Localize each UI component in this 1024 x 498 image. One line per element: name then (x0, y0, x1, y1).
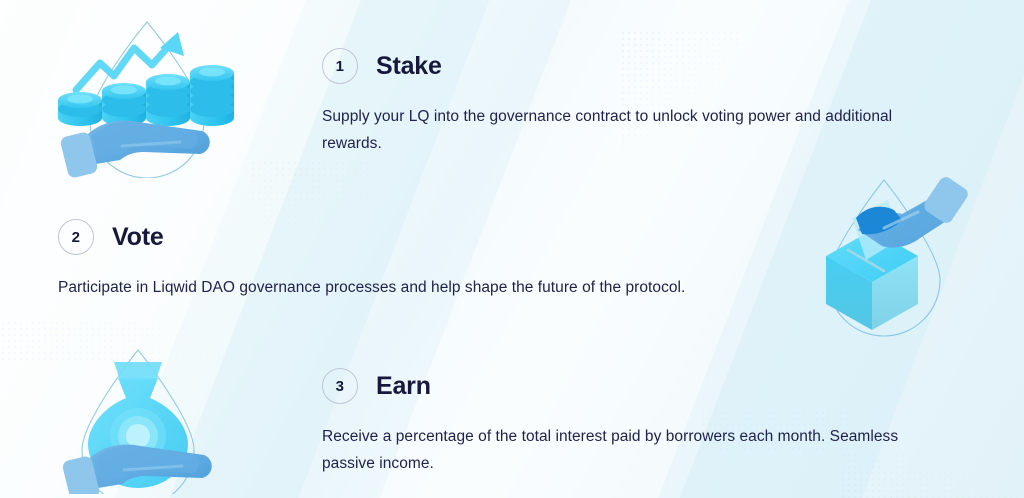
step-earn: 3 Earn Receive a percentage of the total… (322, 368, 942, 477)
step-title: Earn (376, 372, 431, 401)
step-stake: 1 Stake Supply your LQ into the governan… (322, 48, 942, 157)
step-number-badge: 2 (58, 219, 94, 255)
coin-stack-4 (190, 65, 234, 126)
earn-illustration (56, 344, 231, 498)
step-title: Vote (112, 223, 164, 252)
step-title: Stake (376, 52, 442, 81)
step-vote: 2 Vote Participate in Liqwid DAO governa… (58, 219, 758, 302)
step-header: 3 Earn (322, 368, 942, 404)
coin-stack-2 (102, 83, 146, 126)
coin-stack-1 (58, 92, 102, 126)
bag-neck (114, 362, 162, 380)
step-number-badge: 3 (322, 368, 358, 404)
open-hand (59, 121, 209, 178)
step-header: 1 Stake (322, 48, 942, 84)
steps-section: 1 Stake Supply your LQ into the governan… (0, 0, 1024, 498)
hand-inserting-ballot (856, 174, 970, 247)
stake-illustration (52, 18, 242, 183)
step-header: 2 Vote (58, 219, 758, 255)
step-description: Supply your LQ into the governance contr… (322, 104, 942, 157)
vote-illustration (806, 172, 981, 342)
step-description: Receive a percentage of the total intere… (322, 424, 942, 477)
coin-stack-3 (146, 74, 190, 126)
step-description: Participate in Liqwid DAO governance pro… (58, 275, 758, 302)
step-number-badge: 1 (322, 48, 358, 84)
